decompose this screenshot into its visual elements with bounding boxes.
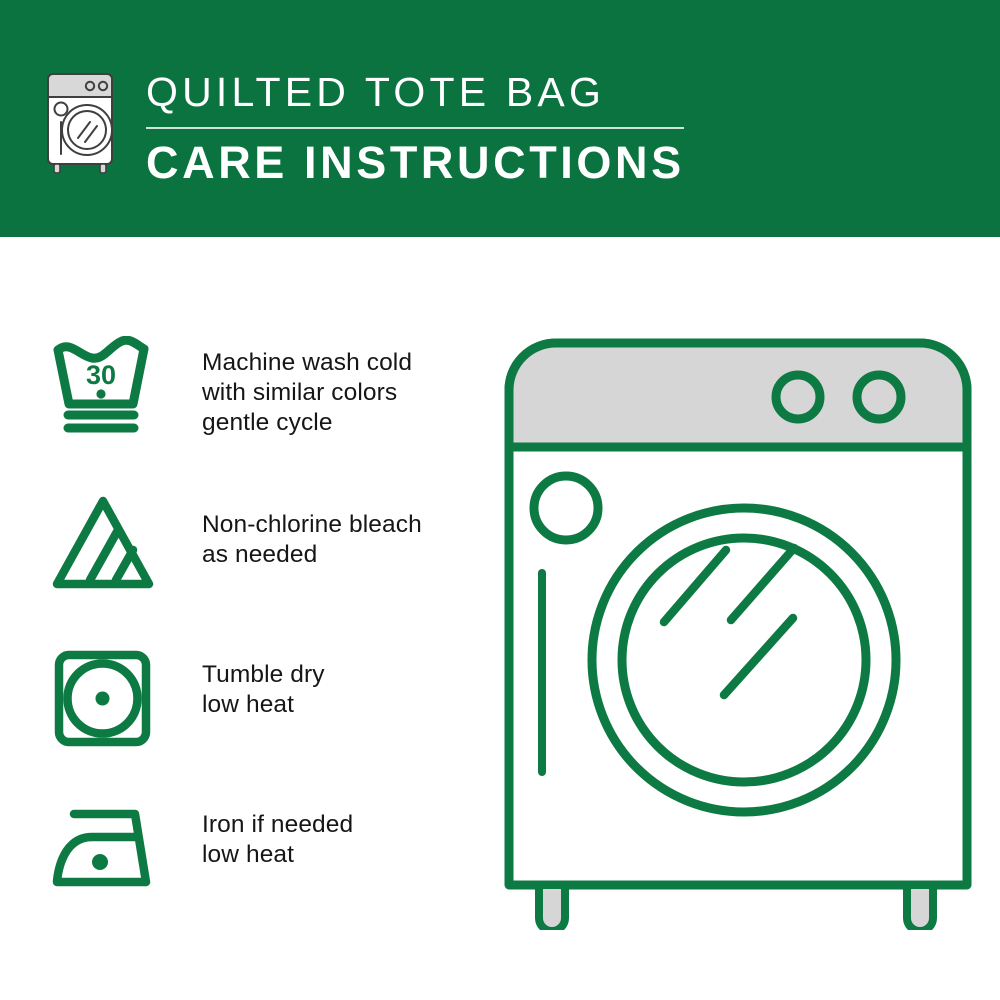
iron-low-heat-symbol (50, 804, 160, 908)
machine-wash-30-gentle-symbol: 30 (50, 336, 160, 440)
washing-machine-icon (44, 70, 116, 174)
header-text-block: QUILTED TOTE BAG CARE INSTRUCTIONS (146, 66, 706, 190)
tumble-dry-low-heat-symbol (50, 646, 160, 750)
care-item-tumble-dry: Tumble dry low heat (50, 636, 480, 786)
care-item-machine-wash: 30 Machine wash cold with similar colors… (50, 336, 480, 486)
title-divider (146, 127, 684, 129)
non-chlorine-bleach-triangle-symbol (50, 492, 160, 596)
care-item-iron: Iron if needed low heat (50, 786, 480, 936)
care-item-label: Machine wash cold with similar colors ge… (202, 348, 412, 438)
wash-temperature-value: 30 (86, 360, 116, 390)
care-instructions-list: 30 Machine wash cold with similar colors… (50, 336, 480, 936)
leg-left (539, 885, 565, 930)
care-item-label: Non-chlorine bleach as needed (202, 510, 422, 570)
care-item-label: Tumble dry low heat (202, 660, 325, 720)
care-item-bleach: Non-chlorine bleach as needed (50, 486, 480, 636)
front-load-washing-machine-illustration (496, 330, 976, 930)
page-title: QUILTED TOTE BAG (146, 66, 706, 118)
header-banner: QUILTED TOTE BAG CARE INSTRUCTIONS (0, 0, 1000, 237)
care-item-label: Iron if needed low heat (202, 810, 353, 870)
page-subtitle: CARE INSTRUCTIONS (146, 136, 706, 190)
leg-right (907, 885, 933, 930)
